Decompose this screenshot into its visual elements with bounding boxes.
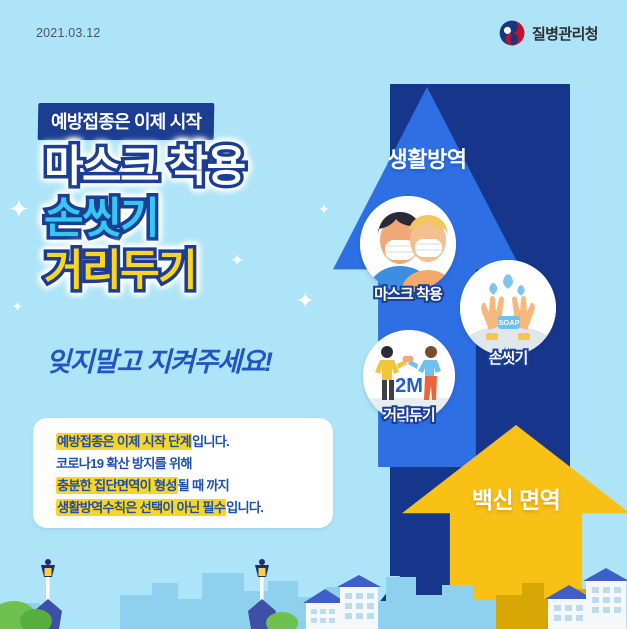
info-line-plain: 코로나19 확산 방지를 위해 <box>56 456 192 471</box>
building-white-4 <box>583 568 627 629</box>
icon-label-mask: 마스크 착용 <box>336 283 480 304</box>
hero-title-line-1: 마스크 착용 <box>44 142 245 192</box>
info-line: 예방접종은 이제 시작 단계입니다. <box>33 431 333 453</box>
sparkle-icon: ✦ <box>318 202 330 216</box>
sparkle-icon: ✦ <box>296 290 314 312</box>
hero-subtitle: 잊지말고 지켜주세요! <box>46 340 272 379</box>
hero-title: 마스크 착용 손씻기 거리두기 <box>44 142 245 298</box>
hero-title-line-2: 손씻기 <box>44 194 245 244</box>
agency-name: 질병관리청 <box>532 23 598 44</box>
headline-banner: 예방접종은 이제 시작 <box>38 103 215 140</box>
distance-label: 2M <box>395 375 423 397</box>
info-line: 코로나19 확산 방지를 위해 <box>33 453 333 475</box>
agency-logo: 질병관리청 <box>499 20 598 46</box>
cityscape-illustration <box>0 537 627 629</box>
sparkle-icon: ✦ <box>12 300 23 313</box>
city-skyline-far <box>0 573 498 629</box>
info-line: 충분한 집단면역이 형성될 때 까지 <box>33 475 333 497</box>
info-line-plain: 입니다. <box>192 434 229 449</box>
icon-label-handwash: 손씻기 <box>436 347 580 368</box>
info-line-plain: 될 때 까지 <box>178 478 229 493</box>
icon-label-distance: 거리두기 <box>337 404 481 425</box>
yellow-arrow-label: 백신 면역 <box>402 481 627 515</box>
soap-label: SOAP <box>498 318 519 327</box>
building-white-2 <box>337 575 381 629</box>
info-line: 생활방역수칙은 선택이 아닌 필수입니다. <box>33 497 333 519</box>
info-line-plain: 입니다. <box>226 500 263 515</box>
taegeuk-icon <box>499 20 525 46</box>
info-line-highlight: 충분한 집단면역이 형성 <box>56 477 178 494</box>
info-box: 예방접종은 이제 시작 단계입니다. 코로나19 확산 방지를 위해 충분한 집… <box>33 418 333 528</box>
publish-date: 2021.03.12 <box>36 26 101 40</box>
blue-arrow-label: 생활방역 <box>333 142 521 174</box>
info-line-highlight: 예방접종은 이제 시작 단계 <box>56 433 192 450</box>
headline-banner-label: 예방접종은 이제 시작 <box>51 108 201 134</box>
handwashing-icon: SOAP <box>460 260 556 356</box>
hero-title-line-3: 거리두기 <box>44 246 245 296</box>
info-line-highlight: 생활방역수칙은 선택이 아닌 필수 <box>56 499 226 516</box>
sparkle-icon: ✦ <box>8 196 30 222</box>
poster-canvas: 2021.03.12 질병관리청 생활방역 백신 면역 ✦ ✦ ✦ ✦ ✦ 예방… <box>0 0 627 629</box>
masked-people-icon <box>360 196 456 292</box>
